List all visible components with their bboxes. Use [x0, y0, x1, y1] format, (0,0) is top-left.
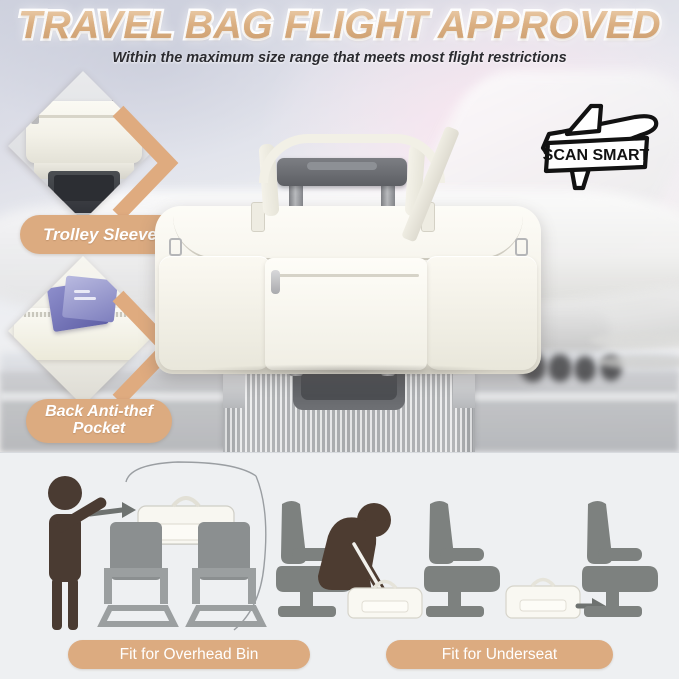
fit-overhead-bin-text: Fit for Overhead Bin: [120, 646, 259, 664]
scan-smart-banner: SCAN SMART: [543, 138, 650, 171]
propeller-blur: [585, 318, 679, 408]
overhead-bin-outline: [126, 462, 256, 482]
page-subtitle: Within the maximum size range that meets…: [0, 50, 679, 66]
label-fit-underseat: Fit for Underseat: [386, 640, 613, 669]
trolley-sleeve-text: Trolley Sleeve: [43, 225, 157, 245]
label-fit-overhead-bin: Fit for Overhead Bin: [68, 640, 310, 669]
seat-side-icon: [424, 501, 500, 617]
landing-gear-wheel: [548, 354, 572, 382]
seat-front-icon: [190, 522, 262, 624]
bag-sliding-under-seat: [506, 580, 580, 619]
fit-underseat-text: Fit for Underseat: [442, 646, 557, 664]
scan-smart-label: SCAN SMART: [543, 147, 650, 164]
anti-theft-text-line1: Back Anti-thef: [45, 404, 153, 421]
underseat-illustration: [270, 458, 670, 633]
fit-illustration-panel: Fit for Overhead Bin Fit for Underseat: [0, 452, 679, 679]
zipper-pull-icon: [271, 270, 280, 294]
product-photo: [155, 150, 545, 452]
standing-person-icon: [48, 476, 108, 630]
product-marketing-image: TRAVEL BAG FLIGHT APPROVED TRAVEL BAG FL…: [0, 0, 679, 679]
callout-label-back-anti-theft-pocket: Back Anti-thef Pocket: [26, 399, 172, 443]
hero-section: TRAVEL BAG FLIGHT APPROVED TRAVEL BAG FL…: [0, 0, 679, 452]
anti-theft-text-line2: Pocket: [73, 421, 125, 438]
page-title-stroke: TRAVEL BAG FLIGHT APPROVED: [0, 4, 679, 48]
